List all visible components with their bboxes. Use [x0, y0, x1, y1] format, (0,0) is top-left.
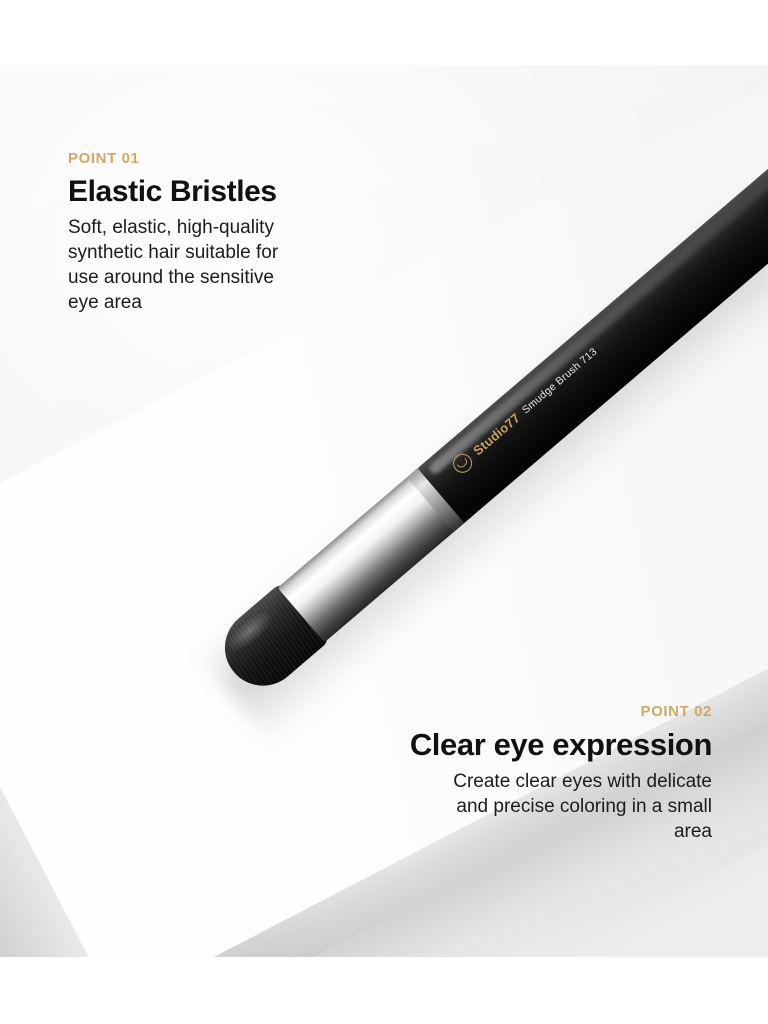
point-01-title: Elastic Bristles [68, 175, 398, 209]
bristles-highlight [221, 604, 279, 658]
point-02-title: Clear eye expression [300, 728, 712, 763]
point-02-body-line: Create clear eyes with delicate [300, 769, 712, 794]
feature-point-02: POINT 02 Clear eye expression Create cle… [300, 703, 712, 844]
point-01-body-line: Soft, elastic, high-quality [68, 215, 398, 240]
product-detail-page: Studio77 Smudge Brush 713 POINT 01 Elast… [0, 0, 768, 1024]
point-02-body: Create clear eyes with delicate and prec… [300, 769, 712, 844]
point-01-body-line: eye area [68, 290, 398, 315]
point-02-kicker: POINT 02 [300, 703, 712, 720]
feature-point-01: POINT 01 Elastic Bristles Soft, elastic,… [68, 150, 398, 315]
point-01-body-line: use around the sensitive [68, 265, 398, 290]
point-01-kicker: POINT 01 [68, 150, 398, 167]
point-01-body-line: synthetic hair suitable for [68, 240, 398, 265]
point-02-body-line: and precise coloring in a small [300, 794, 712, 819]
point-01-body: Soft, elastic, high-quality synthetic ha… [68, 215, 398, 315]
point-02-body-line: area [300, 819, 712, 844]
